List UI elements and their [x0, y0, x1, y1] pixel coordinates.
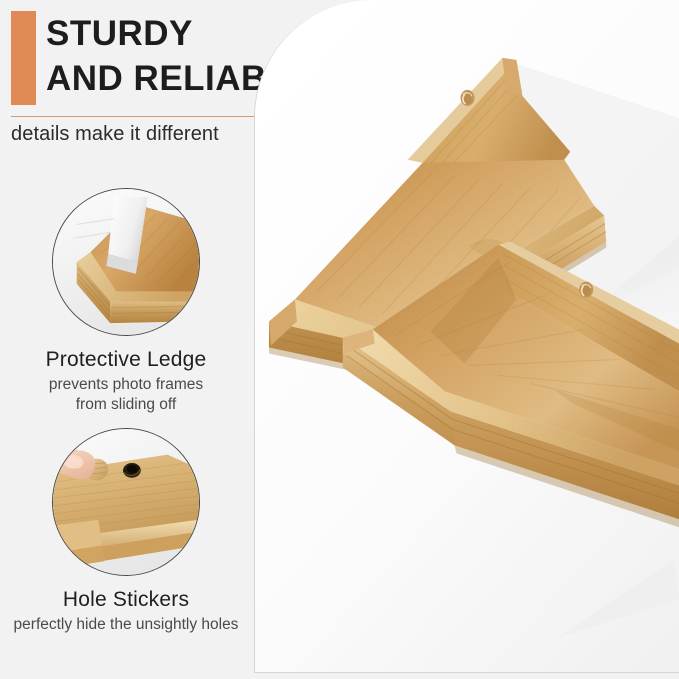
feature-image-protective-ledge — [52, 188, 200, 336]
floating-shelves-illustration — [255, 0, 679, 672]
title-divider — [11, 116, 258, 117]
shelf-ledge-illustration — [53, 189, 199, 335]
page-subtitle: details make it different — [11, 123, 291, 146]
feature-title: Protective Ledge — [0, 348, 252, 372]
accent-bar — [11, 11, 36, 105]
feature-image-hole-stickers — [52, 428, 200, 576]
feature-title: Hole Stickers — [0, 588, 252, 612]
feature-protective-ledge: Protective Ledge prevents photo frames f… — [0, 188, 252, 415]
feature-hole-stickers: Hole Stickers perfectly hide the unsight… — [0, 428, 252, 635]
infographic-canvas: STURDY AND RELIABLE details make it diff… — [0, 0, 679, 679]
feature-subtitle: perfectly hide the unsightly holes — [0, 615, 252, 635]
hole-sticker-illustration — [53, 429, 199, 575]
product-image-panel — [254, 0, 679, 673]
feature-subtitle: prevents photo frames from sliding off — [0, 375, 252, 415]
